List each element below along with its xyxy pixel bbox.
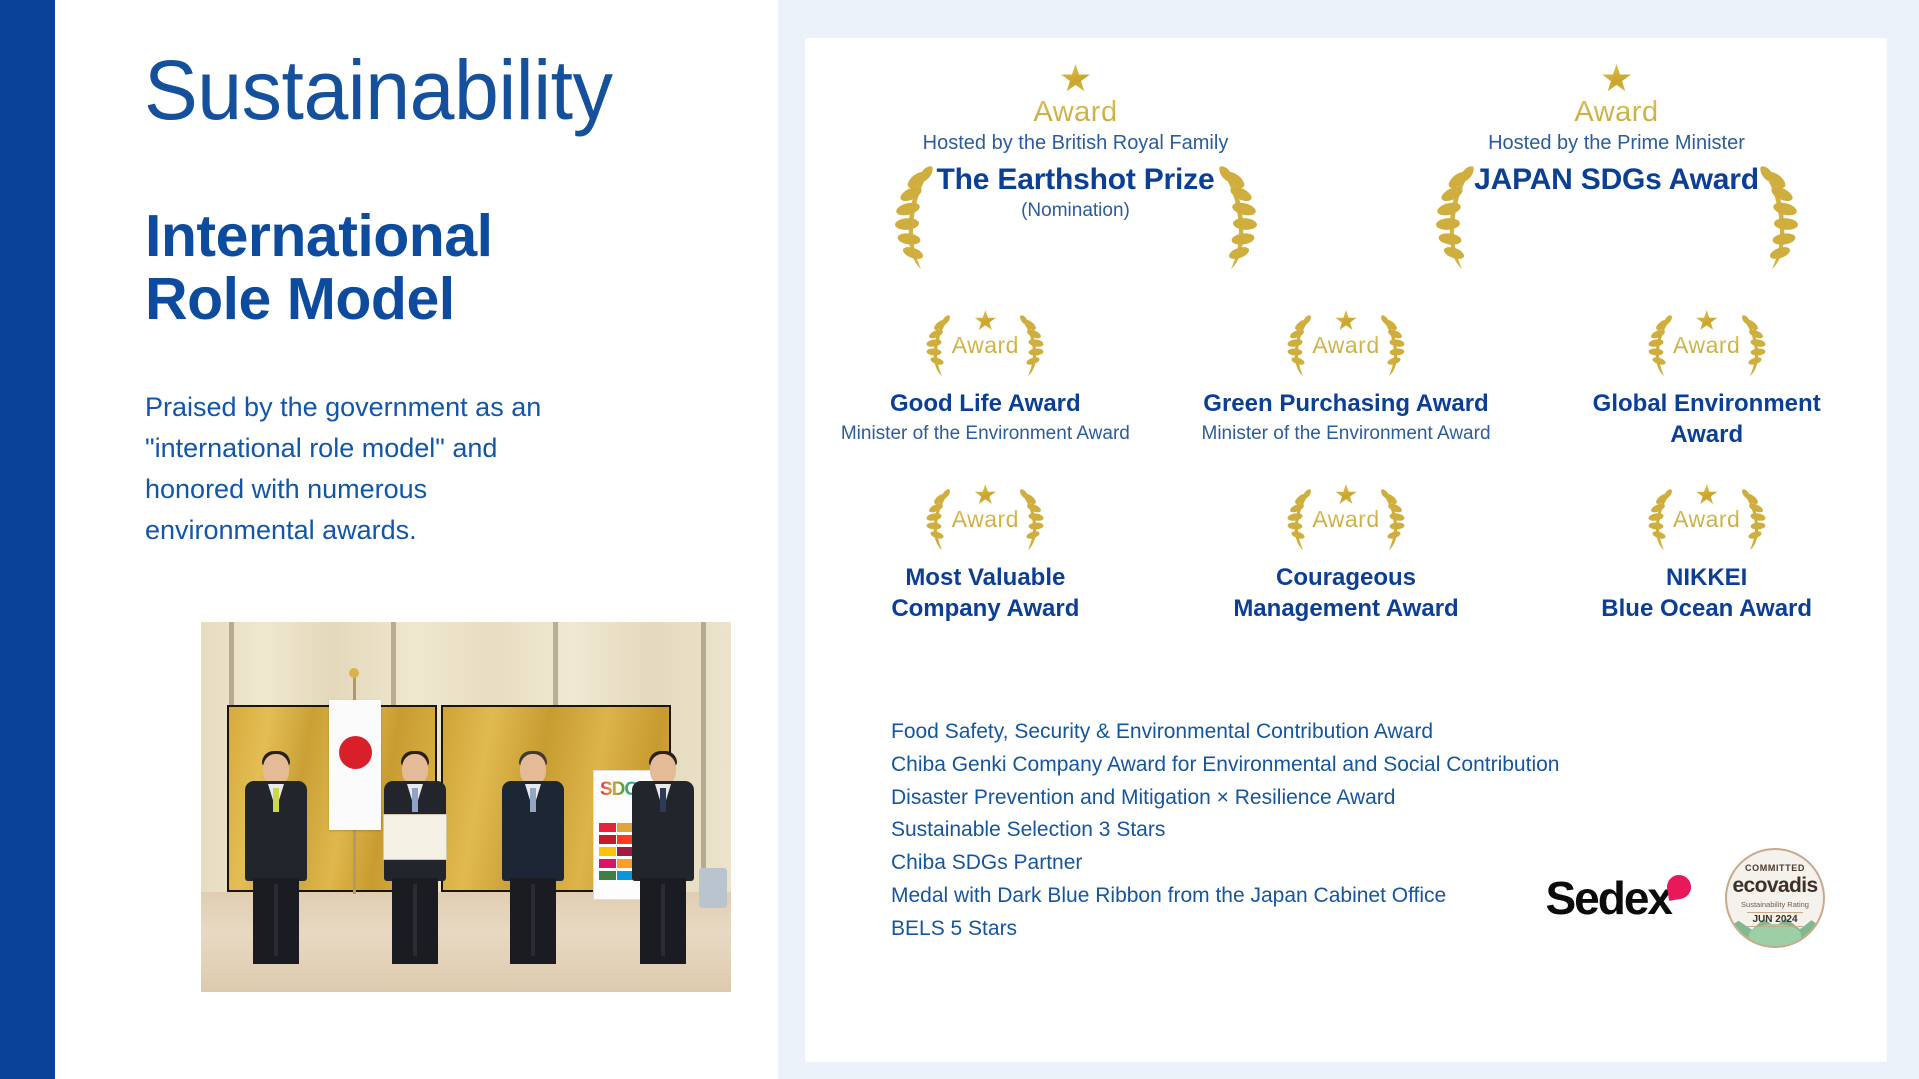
award-good-life: Award Good Life Award Minister of the En…	[805, 312, 1166, 482]
page-eyebrow-title: Sustainability	[144, 48, 612, 132]
top-awards-row: Award Hosted by the British Royal Family…	[805, 64, 1887, 284]
award-most-valuable-company: Award Most Valuable Company Award	[805, 486, 1166, 656]
award-emblem-label: Award	[1271, 506, 1421, 533]
award-courageous-management: Award Courageous Management Award	[1166, 486, 1527, 656]
award-title: Good Life Award	[805, 388, 1166, 419]
sedex-logo-text: Sedex	[1545, 872, 1671, 924]
award-subtitle: Minister of the Environment Award	[805, 423, 1166, 445]
left-accent-bar	[0, 0, 55, 1079]
award-star-icon	[1061, 64, 1091, 94]
award-row-3: Award Most Valuable Company Award Award …	[805, 486, 1887, 656]
award-title: Courageous Management Award	[1166, 562, 1527, 624]
award-title: Most Valuable Company Award	[805, 562, 1166, 624]
top-award-1: Award Hosted by the Prime Minister JAPAN…	[1346, 64, 1887, 284]
list-item: Chiba SDGs Partner	[891, 847, 1559, 880]
award-row-2: Award Good Life Award Minister of the En…	[805, 312, 1887, 482]
award-star-icon	[974, 310, 996, 332]
laurel-right-icon	[1752, 160, 1798, 270]
list-item: Chiba Genki Company Award for Environmen…	[891, 749, 1559, 782]
right-panel: Award Hosted by the British Royal Family…	[778, 0, 1919, 1079]
list-item: Disaster Prevention and Mitigation × Res…	[891, 782, 1559, 815]
page-title: International Role Model	[145, 205, 493, 330]
award-green-purchasing: Award Green Purchasing Award Minister of…	[1166, 312, 1527, 482]
award-global-environment: Award Global Environment Award	[1526, 312, 1887, 482]
award-emblem-label: Award	[1632, 332, 1782, 359]
list-item: BELS 5 Stars	[891, 913, 1559, 946]
sedex-logo: Sedex	[1545, 871, 1689, 925]
award-subtitle: Minister of the Environment Award	[1166, 423, 1527, 445]
awards-card: Award Hosted by the British Royal Family…	[805, 38, 1887, 1062]
award-emblem-label: Award	[1271, 332, 1421, 359]
award-star-icon	[1602, 64, 1632, 94]
slide-root: Sustainability International Role Model …	[0, 0, 1919, 1079]
ecovadis-date: JUN 2024	[1747, 912, 1802, 927]
award-title: Green Purchasing Award	[1166, 388, 1527, 419]
certification-logos: Sedex COMMITTED ecovadis Sustainability …	[1545, 848, 1825, 948]
award-emblem-label: Award	[881, 96, 1271, 129]
page-lead-paragraph: Praised by the government as an "interna…	[145, 387, 625, 551]
list-item: Food Safety, Security & Environmental Co…	[891, 716, 1559, 749]
award-emblem-label: Award	[1422, 96, 1812, 129]
award-title: NIKKEI Blue Ocean Award	[1526, 562, 1887, 624]
laurel-left-icon	[1436, 160, 1482, 270]
award-star-icon	[974, 484, 996, 506]
award-title: Global Environment Award	[1526, 388, 1887, 450]
ecovadis-brand: ecovadis	[1727, 874, 1823, 898]
laurel-right-icon	[1211, 160, 1257, 270]
award-emblem-label: Award	[1632, 506, 1782, 533]
list-item: Sustainable Selection 3 Stars	[891, 814, 1559, 847]
ceremony-photo: SDGs	[201, 622, 731, 992]
ecovadis-rating-label: Sustainability Rating	[1727, 900, 1823, 909]
ecovadis-badge: COMMITTED ecovadis Sustainability Rating…	[1725, 848, 1825, 948]
list-item: Medal with Dark Blue Ribbon from the Jap…	[891, 880, 1559, 913]
award-emblem-label: Award	[910, 506, 1060, 533]
award-star-icon	[1335, 484, 1357, 506]
top-award-0: Award Hosted by the British Royal Family…	[805, 64, 1346, 284]
award-star-icon	[1696, 310, 1718, 332]
ecovadis-status: COMMITTED	[1727, 863, 1823, 873]
award-emblem-label: Award	[910, 332, 1060, 359]
award-nikkei-blue-ocean: Award NIKKEI Blue Ocean Award	[1526, 486, 1887, 656]
ecovadis-leaf-inner-icon	[1749, 924, 1801, 946]
left-column: Sustainability International Role Model …	[55, 0, 778, 1079]
other-awards-list: Food Safety, Security & Environmental Co…	[891, 716, 1559, 945]
laurel-left-icon	[895, 160, 941, 270]
award-star-icon	[1696, 484, 1718, 506]
award-star-icon	[1335, 310, 1357, 332]
